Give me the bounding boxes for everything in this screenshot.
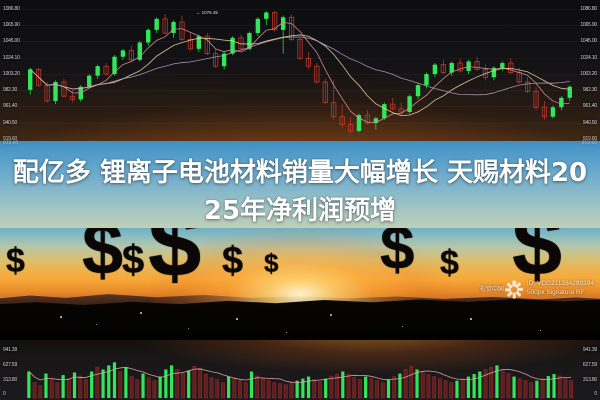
- sparkle: [60, 316, 62, 318]
- volume-y-tick-right: 941.39: [583, 347, 597, 353]
- volume-y-tick-left: 0: [3, 391, 6, 397]
- sunset-photo: $ $ $ $ $ $ $ $ $ 视觉中国 ID: VCG2112842893…: [0, 228, 600, 340]
- watermark-logo: 视觉中国: [480, 281, 522, 296]
- price-candlestick-chart: 1086.80 1065.90 1045.00 1024.10 1003.20 …: [0, 0, 600, 150]
- dollar-sign-icon: $: [264, 250, 278, 276]
- volume-y-tick-left: 627.59: [3, 362, 17, 368]
- watermark-id: ID: VCG211284289394: [527, 280, 594, 289]
- screenshot-root: 1086.80 1065.90 1045.00 1024.10 1003.20 …: [0, 0, 600, 400]
- volume-y-tick-right: 0: [594, 391, 597, 397]
- y-axis-tick-right: 1003.20: [580, 71, 597, 77]
- y-axis-tick-right: 982.30: [583, 87, 597, 93]
- y-axis-tick-left: 982.30: [3, 87, 17, 93]
- sparkle: [140, 312, 142, 314]
- y-axis-tick-left: 1003.20: [3, 71, 20, 77]
- headline-line-2: 25年净利润预增: [6, 193, 594, 231]
- watermark-brand-label: 视觉中国: [480, 284, 504, 293]
- volume-y-tick-left: 941.39: [3, 347, 17, 353]
- y-axis-tick-right: 1024.10: [580, 55, 597, 61]
- peak-annotation-value: 1076.45: [202, 10, 218, 15]
- candlestick-plot-area: [0, 0, 600, 150]
- y-axis-tick-right: 1086.80: [580, 6, 597, 12]
- sunburst-logo-icon: [507, 281, 522, 296]
- dollar-sign-icon: $: [440, 246, 459, 280]
- dollar-sign-icon: $: [380, 228, 414, 280]
- headline-line-1: 配亿多 锂离子电池材料销量大幅增长 天赐材料20: [6, 155, 594, 193]
- dollar-sign-icon: $: [122, 240, 144, 280]
- watermark: 视觉中国 ID: VCG211284289394 500px Signature…: [480, 280, 594, 298]
- watermark-license: 500px Signature RF: [527, 289, 594, 298]
- y-axis-tick-left: 940.50: [3, 120, 17, 126]
- y-axis-tick-left: 1065.90: [3, 22, 20, 28]
- sparkle: [236, 318, 238, 320]
- y-axis-tick-left: 1045.00: [3, 38, 20, 44]
- y-axis-tick-right: 1065.90: [580, 22, 597, 28]
- volume-y-tick-right: 627.59: [583, 362, 597, 368]
- y-axis-tick-right: 961.40: [583, 103, 597, 109]
- y-axis-tick-left: 1086.80: [3, 6, 20, 12]
- y-axis-tick-right: 940.50: [583, 120, 597, 126]
- watermark-text-block: ID: VCG211284289394 500px Signature RF: [527, 280, 594, 298]
- headline-overlay: 配亿多 锂离子电池材料销量大幅增长 天赐材料20 25年净利润预增: [0, 155, 600, 230]
- band-tick-left: 919.60: [3, 140, 18, 146]
- sparkle: [330, 314, 332, 316]
- dollar-sign-icon: $: [222, 242, 243, 280]
- volume-plot-area: [0, 340, 600, 400]
- band-tick-right: 919.60: [582, 140, 597, 146]
- volume-y-tick-left: 313.80: [3, 377, 17, 383]
- dollar-sign-icon: $: [148, 228, 201, 292]
- peak-annotation: ← 1076.45: [196, 10, 218, 15]
- dollar-sign-icon: $: [82, 228, 123, 286]
- volume-bar-chart: 941.39 627.59 313.80 0 941.39 627.59 313…: [0, 340, 600, 400]
- y-axis-tick-right: 1045.00: [580, 38, 597, 44]
- sparkle: [470, 318, 472, 320]
- volume-y-tick-right: 313.80: [583, 377, 597, 383]
- y-axis-tick-left: 961.40: [3, 103, 17, 109]
- dollar-sign-icon: $: [6, 244, 25, 278]
- y-axis-tick-left: 1024.10: [3, 55, 20, 61]
